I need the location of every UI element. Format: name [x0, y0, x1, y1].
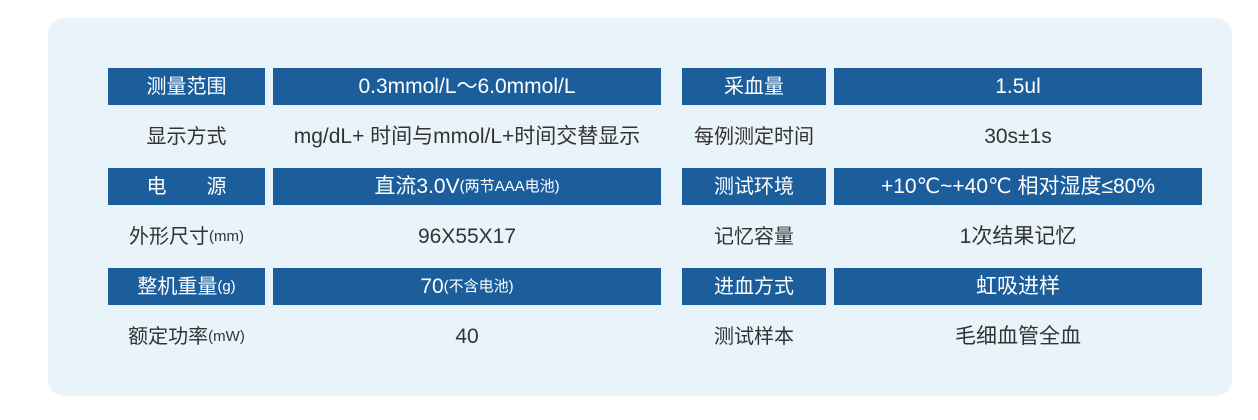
spec-row: 额定功率(mW) 40	[108, 318, 661, 355]
spec-value-text: 0.3mmol/L～6.0mmol/L	[358, 76, 575, 97]
spec-label-text: 电 源	[147, 177, 227, 197]
spec-value-cell: 虹吸进样	[834, 268, 1202, 305]
spec-label-text: 记忆容量	[714, 227, 794, 247]
spec-label-suffix: (mW)	[208, 329, 245, 344]
spec-row: 整机重量(g) 70(不含电池)	[108, 268, 661, 305]
spec-label-cell: 电 源	[108, 168, 265, 205]
spec-row: 记忆容量 1次结果记忆	[682, 218, 1202, 255]
spec-row: 显示方式 mg/dL+ 时间与mmol/L+时间交替显示	[108, 118, 661, 155]
spec-value-cell: 直流3.0V(两节AAA电池)	[273, 168, 661, 205]
spec-value-text: 毛细血管全血	[955, 326, 1081, 347]
spec-label-text: 显示方式	[147, 127, 227, 147]
spec-label-suffix: (mm)	[209, 229, 244, 244]
spec-label-cell: 整机重量(g)	[108, 268, 265, 305]
spec-label-suffix: (g)	[217, 279, 235, 294]
spec-value-cell: 0.3mmol/L～6.0mmol/L	[273, 68, 661, 105]
spec-label-cell: 显示方式	[108, 118, 265, 155]
spec-label-text: 额定功率	[128, 327, 208, 347]
spec-label-cell: 外形尺寸(mm)	[108, 218, 265, 255]
spec-value-text: 40	[455, 326, 478, 347]
specifications-column-right: 采血量 1.5ul 每例测定时间 30s±1s 测试环境 +10	[682, 68, 1202, 355]
specifications-columns: 测量范围 0.3mmol/L～6.0mmol/L 显示方式 mg/dL+ 时间与…	[48, 18, 1232, 396]
spec-value-text: 96X55X17	[418, 226, 516, 247]
spec-row: 测试样本 毛细血管全血	[682, 318, 1202, 355]
spec-label-text: 采血量	[724, 77, 784, 97]
spec-value-text: 虹吸进样	[976, 276, 1060, 297]
spec-value-cell: 70(不含电池)	[273, 268, 661, 305]
spec-row: 测试环境 +10℃~+40℃ 相对湿度≤80%	[682, 168, 1202, 205]
spec-value-cell: 毛细血管全血	[834, 318, 1202, 355]
spec-row: 测量范围 0.3mmol/L～6.0mmol/L	[108, 68, 661, 105]
spec-value-cell: 30s±1s	[834, 118, 1202, 155]
spec-value-suffix: (不含电池)	[444, 279, 514, 294]
spec-row: 外形尺寸(mm) 96X55X17	[108, 218, 661, 255]
spec-row: 进血方式 虹吸进样	[682, 268, 1202, 305]
spec-label-text: 外形尺寸	[129, 227, 209, 247]
spec-value-suffix: (两节AAA电池)	[460, 179, 560, 194]
spec-value-cell: 1.5ul	[834, 68, 1202, 105]
spec-value-text: mg/dL+ 时间与mmol/L+时间交替显示	[294, 126, 641, 147]
spec-row: 采血量 1.5ul	[682, 68, 1202, 105]
spec-value-cell: 1次结果记忆	[834, 218, 1202, 255]
spec-label-text: 测试环境	[714, 177, 794, 197]
spec-value-text: 30s±1s	[984, 126, 1052, 147]
spec-row: 每例测定时间 30s±1s	[682, 118, 1202, 155]
spec-label-cell: 测试样本	[682, 318, 826, 355]
specifications-panel: 测量范围 0.3mmol/L～6.0mmol/L 显示方式 mg/dL+ 时间与…	[48, 18, 1232, 396]
spec-value-text: 直流3.0V	[374, 176, 459, 197]
spec-label-text: 测试样本	[714, 327, 794, 347]
spec-value-text: 1.5ul	[995, 76, 1041, 97]
spec-value-cell: +10℃~+40℃ 相对湿度≤80%	[834, 168, 1202, 205]
spec-label-text: 每例测定时间	[694, 127, 814, 147]
spec-label-cell: 采血量	[682, 68, 826, 105]
specifications-column-left: 测量范围 0.3mmol/L～6.0mmol/L 显示方式 mg/dL+ 时间与…	[108, 68, 661, 355]
spec-value-cell: mg/dL+ 时间与mmol/L+时间交替显示	[273, 118, 661, 155]
spec-label-text: 整机重量	[137, 277, 217, 297]
spec-label-cell: 测试环境	[682, 168, 826, 205]
spec-label-cell: 测量范围	[108, 68, 265, 105]
spec-label-text: 进血方式	[714, 277, 794, 297]
spec-value-text: 70	[420, 276, 443, 297]
spec-label-cell: 记忆容量	[682, 218, 826, 255]
spec-value-text: +10℃~+40℃ 相对湿度≤80%	[881, 176, 1155, 197]
spec-row: 电 源 直流3.0V(两节AAA电池)	[108, 168, 661, 205]
spec-value-cell: 40	[273, 318, 661, 355]
spec-value-cell: 96X55X17	[273, 218, 661, 255]
spec-label-cell: 每例测定时间	[682, 118, 826, 155]
spec-label-text: 测量范围	[147, 77, 227, 97]
spec-label-cell: 额定功率(mW)	[108, 318, 265, 355]
spec-value-text: 1次结果记忆	[960, 226, 1077, 247]
spec-label-cell: 进血方式	[682, 268, 826, 305]
